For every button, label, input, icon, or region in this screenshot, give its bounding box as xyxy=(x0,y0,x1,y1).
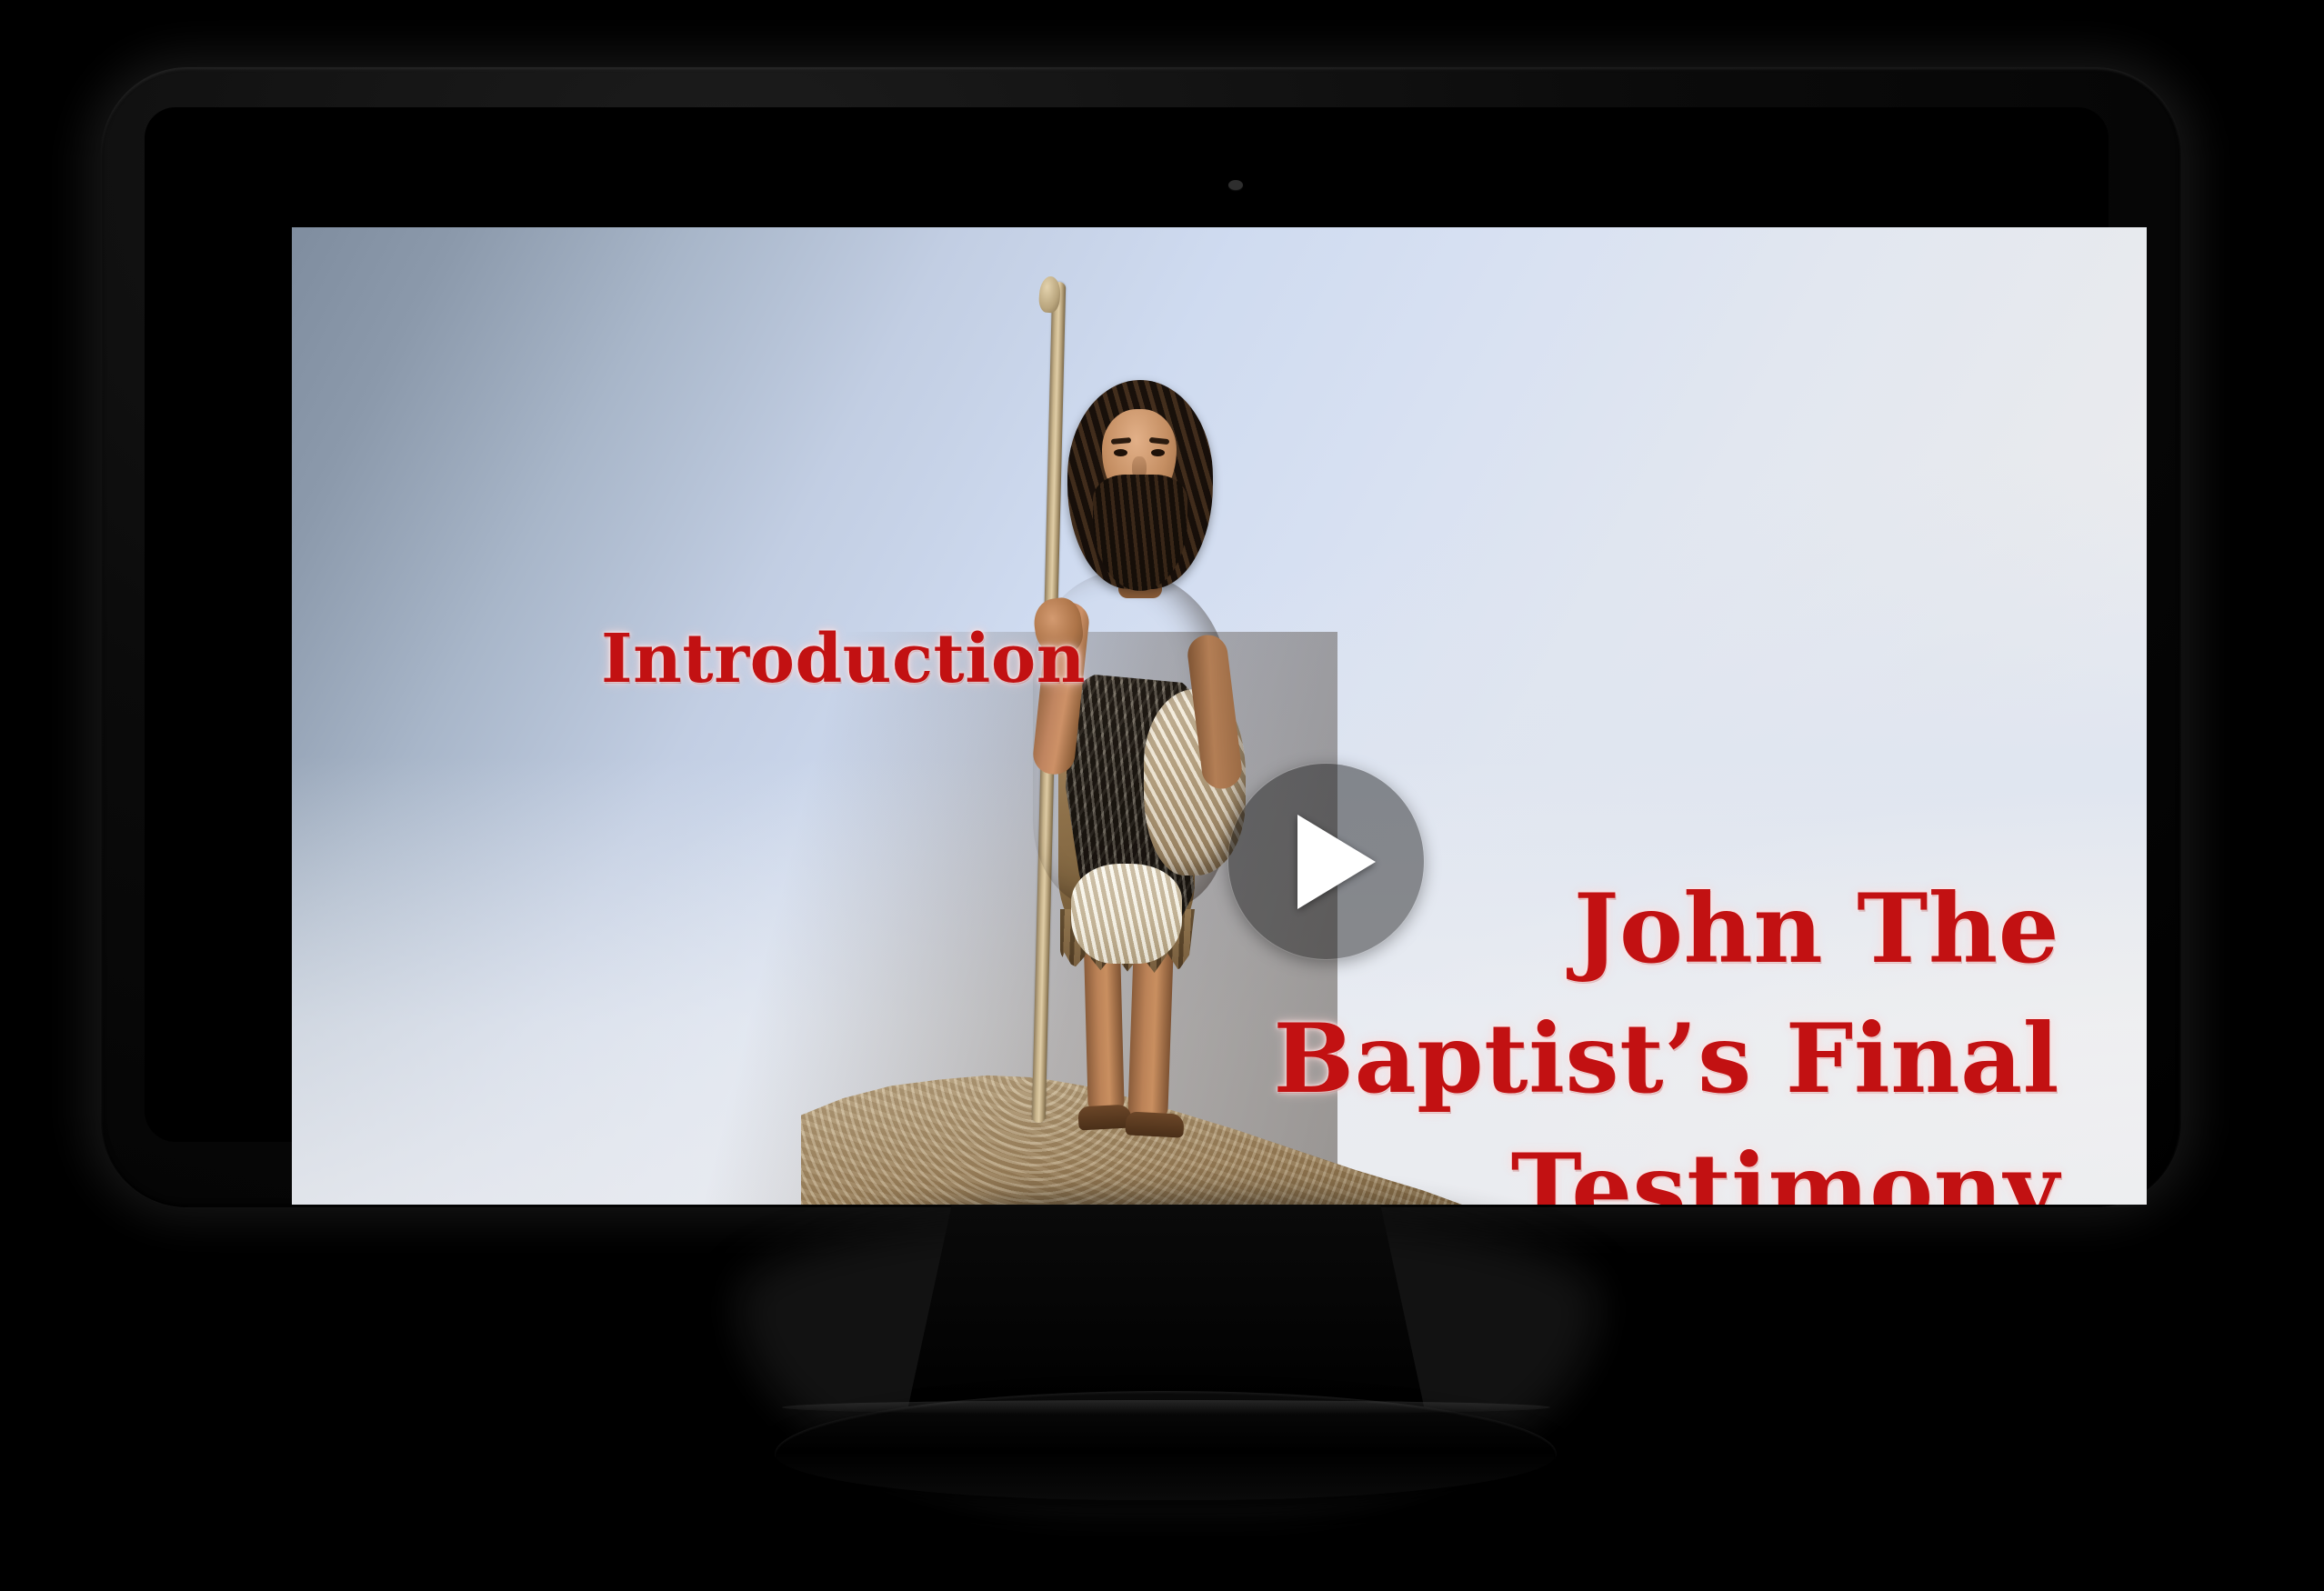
monitor-stand-neck xyxy=(905,1205,1427,1423)
monitor-device: Introduction John The Baptist’s Final Te… xyxy=(86,55,2196,1218)
video-title-line-3: Testimony xyxy=(1273,1124,2059,1205)
screenshot-stage: Introduction John The Baptist’s Final Te… xyxy=(0,0,2324,1591)
play-button[interactable] xyxy=(1228,764,1424,959)
section-label: Introduction xyxy=(601,625,1086,693)
monitor-stand-base-highlight xyxy=(782,1400,1550,1415)
john-the-baptist-figure xyxy=(933,282,1260,1168)
play-icon xyxy=(1297,815,1376,909)
left-sandal xyxy=(1077,1105,1131,1131)
video-title-line-2: Baptist’s Final xyxy=(1273,994,2059,1124)
fleece-hem xyxy=(1071,864,1182,964)
webcam-icon xyxy=(1228,180,1243,190)
monitor-screen[interactable]: Introduction John The Baptist’s Final Te… xyxy=(292,227,2147,1205)
left-eye xyxy=(1114,449,1127,456)
right-sandal xyxy=(1125,1111,1184,1137)
right-eye xyxy=(1151,449,1165,456)
